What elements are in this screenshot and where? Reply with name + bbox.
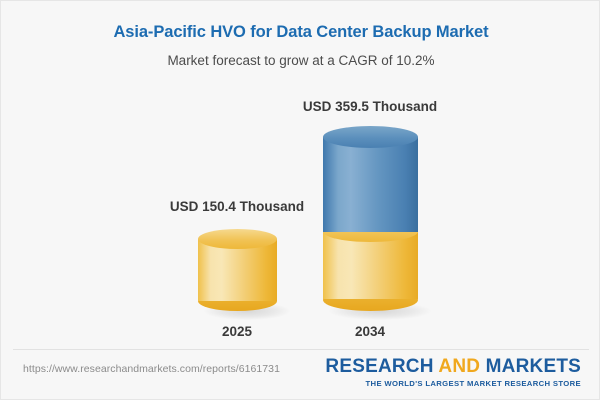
brand-name-part2: MARKETS xyxy=(480,356,581,377)
bar-2034-growth-segment xyxy=(323,137,418,232)
brand-logo: RESEARCH AND MARKETS THE WORLD'S LARGEST… xyxy=(325,357,581,388)
bar-2034-top-cap xyxy=(323,126,418,148)
brand-name-part1: RESEARCH xyxy=(325,356,438,377)
report-url[interactable]: https://www.researchandmarkets.com/repor… xyxy=(23,363,280,375)
bar-2025-top-cap xyxy=(198,229,277,249)
chart-figure: Asia-Pacific HVO for Data Center Backup … xyxy=(0,0,600,400)
footer-divider xyxy=(13,349,589,350)
chart-subtitle: Market forecast to grow at a CAGR of 10.… xyxy=(1,53,600,68)
bar-2025[interactable] xyxy=(198,229,277,311)
bar-2025-value-label: USD 150.4 Thousand xyxy=(137,199,337,214)
bar-2034-value-label: USD 359.5 Thousand xyxy=(270,99,470,114)
chart-title: Asia-Pacific HVO for Data Center Backup … xyxy=(1,23,600,42)
brand-name: RESEARCH AND MARKETS xyxy=(325,357,581,377)
brand-name-and: AND xyxy=(438,356,480,377)
brand-tagline: THE WORLD'S LARGEST MARKET RESEARCH STOR… xyxy=(325,379,581,388)
bar-2034[interactable] xyxy=(323,126,418,311)
bar-2034-category-label: 2034 xyxy=(290,324,450,339)
plot-area: USD 150.4 Thousand 2025 USD 359.5 Thousa… xyxy=(1,81,600,343)
